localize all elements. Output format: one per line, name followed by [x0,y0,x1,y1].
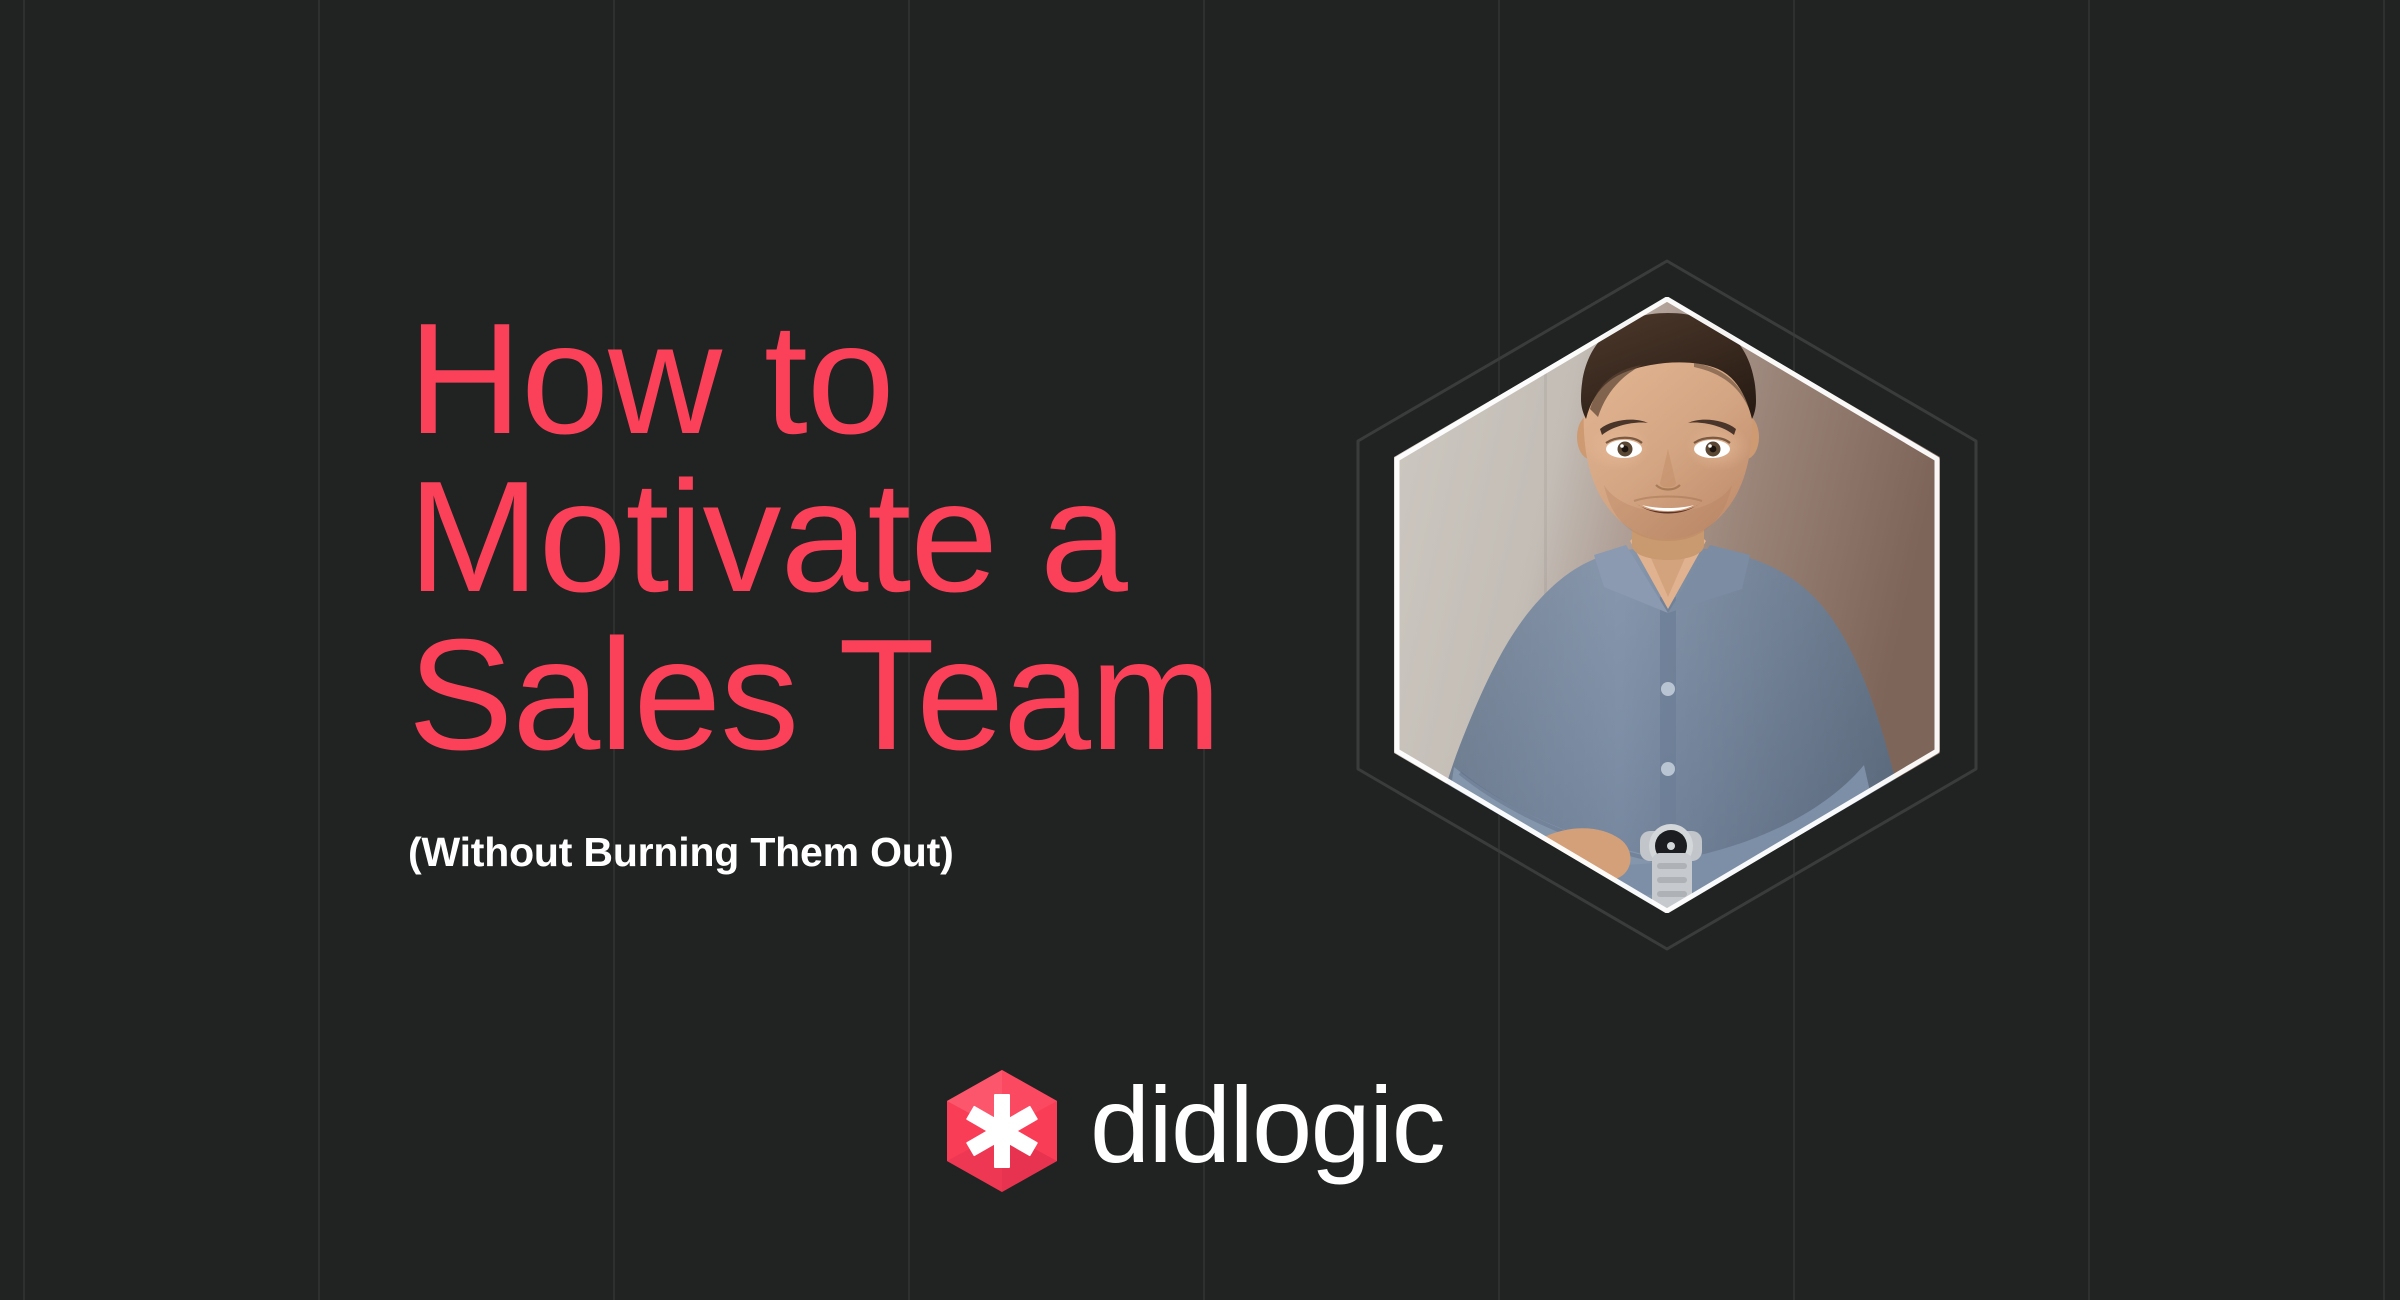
gridline-1 [318,0,320,1300]
gridline-0 [23,0,25,1300]
page-title: How to Motivate a Sales Team [408,300,1308,774]
promo-banner: How to Motivate a Sales Team (Without Bu… [0,0,2400,1300]
didlogic-hexagon-asterisk-icon [944,1068,1060,1194]
portrait-frame [1352,255,1982,955]
headline-block: How to Motivate a Sales Team (Without Bu… [408,300,1308,876]
portrait-inner-hexagon-border [1394,297,1940,913]
brand-logo: didlogic [944,1068,1444,1194]
brand-wordmark: didlogic [1090,1071,1444,1191]
gridline-7 [2088,0,2090,1300]
gridline-8 [2383,0,2385,1300]
page-subtitle: (Without Burning Them Out) [408,774,1308,876]
